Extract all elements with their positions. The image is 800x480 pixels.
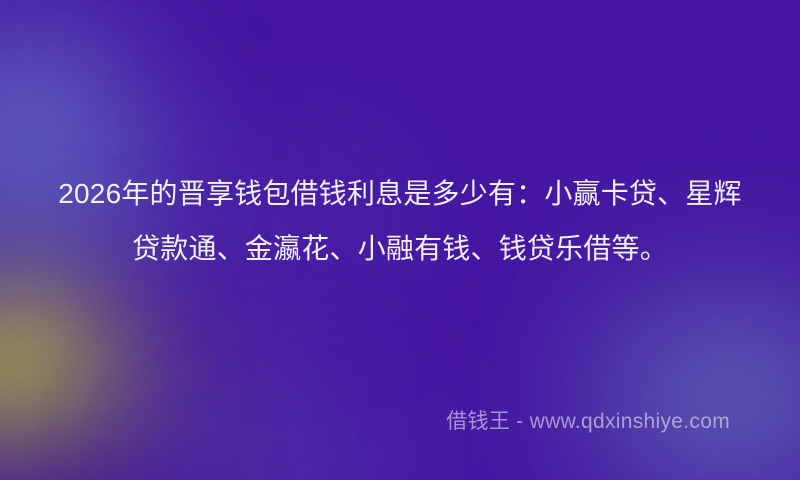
gradient-blob-dark-bottom-left (0, 400, 200, 480)
promo-banner: 2026年的晋享钱包借钱利息是多少有：小赢卡贷、星辉贷款通、金瀛花、小融有钱、钱… (0, 0, 800, 480)
site-watermark: 借钱王 - www.qdxinshiye.com (446, 408, 730, 436)
gradient-blob-slate-bottom-center (120, 372, 450, 480)
headline-text: 2026年的晋享钱包借钱利息是多少有：小赢卡贷、星辉贷款通、金瀛花、小融有钱、钱… (52, 166, 748, 276)
gradient-blob-olive-bleed (0, 268, 280, 480)
